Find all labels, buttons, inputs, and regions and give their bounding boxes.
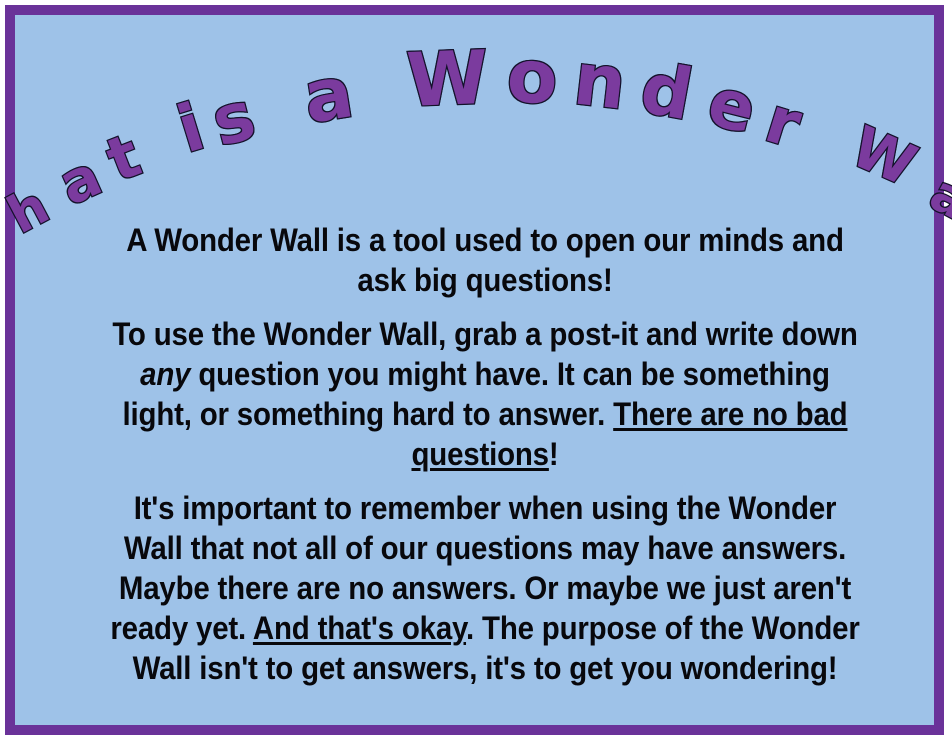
paragraph-purpose: It's important to remember when using th… [110,488,861,688]
underlined-text: And that's okay [253,610,466,646]
title-char: W [844,118,924,195]
text-run: A Wonder Wall is a tool used to open our… [126,222,844,298]
title-char: t [99,125,148,191]
title-char: n [570,43,629,121]
slide-border-frame: WhatisaWonderWall? A Wonder Wall is a to… [5,5,944,735]
title-char: a [922,168,952,228]
title-char: W [405,42,489,119]
body-text-block: A Wonder Wall is a tool used to open our… [77,220,893,688]
slide-content-area: WhatisaWonderWall? A Wonder Wall is a to… [15,15,952,745]
page-title: WhatisaWonderWall? [15,15,952,205]
text-run: To use the Wonder Wall, grab a post-it a… [112,316,857,352]
title-char: a [299,56,358,134]
paragraph-how-to-use: To use the Wonder Wall, grab a post-it a… [110,314,861,474]
title-char: s [206,81,262,156]
title-char: i [171,96,211,165]
emphasis-text: any [140,356,190,392]
slide-canvas: WhatisaWonderWall? A Wonder Wall is a to… [0,0,952,748]
paragraph-definition: A Wonder Wall is a tool used to open our… [110,220,861,300]
title-char: a [52,148,110,215]
text-run: ! [549,436,559,472]
title-char: o [505,40,559,116]
title-char: r [758,88,807,159]
title-char: h [0,180,56,243]
title-char: e [702,68,763,144]
title-char: d [636,53,698,131]
